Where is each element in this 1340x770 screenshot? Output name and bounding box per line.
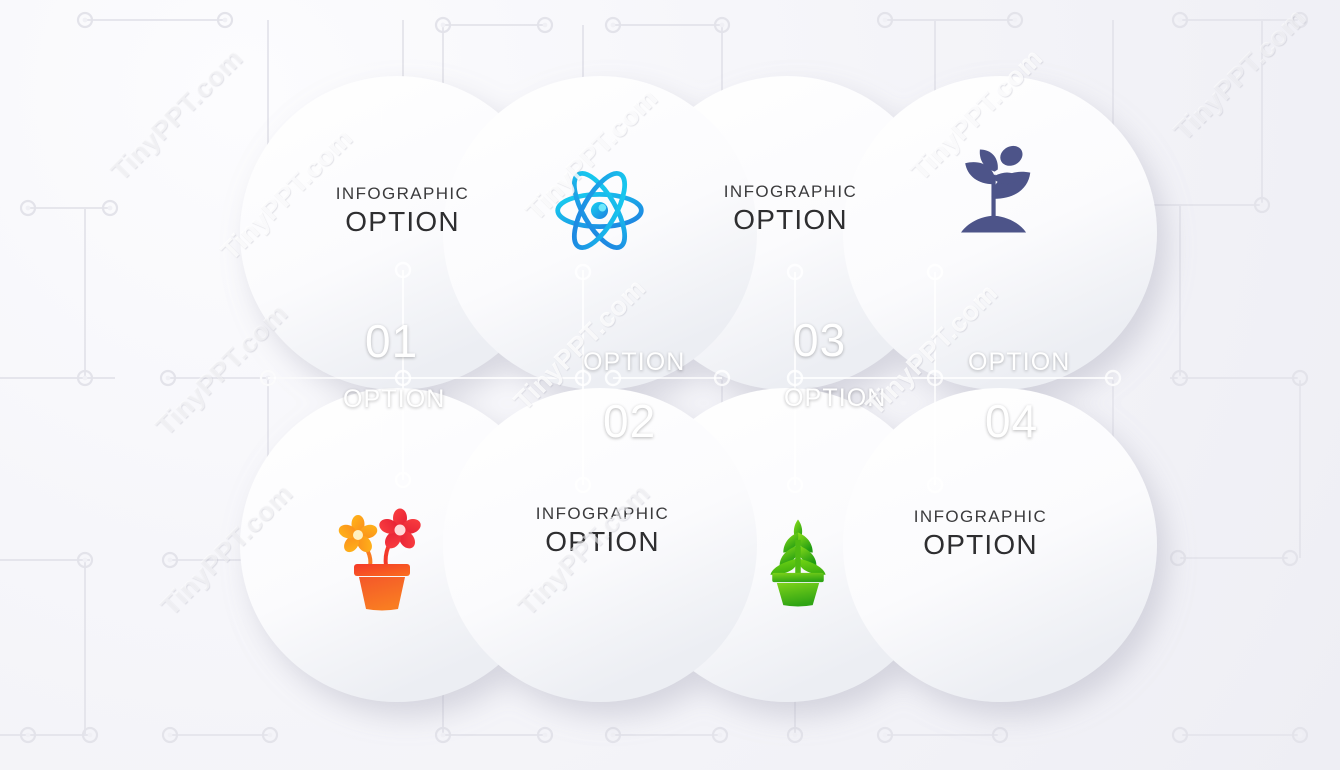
arrow-number-1: 01 [365, 318, 418, 364]
potted-plant-icon [752, 508, 844, 613]
arrow-number-3: 03 [793, 317, 846, 363]
caption-step-4-small: INFOGRAPHIC [848, 508, 1113, 525]
arrow-number-2: 02 [603, 398, 656, 444]
infographic-canvas: INFOGRAPHIC OPTION INFOGRAPHIC OPTION IN… [0, 0, 1340, 770]
flower-pot-icon [332, 508, 432, 613]
caption-step-3-large: OPTION [658, 206, 923, 234]
caption-step-3: INFOGRAPHIC OPTION [658, 183, 923, 234]
arrow-label-1: OPTION [343, 387, 445, 412]
caption-step-4: INFOGRAPHIC OPTION [848, 508, 1113, 559]
caption-step-4-large: OPTION [848, 531, 1113, 559]
arrow-label-2: OPTION [583, 350, 685, 375]
arrow-number-4: 04 [985, 398, 1038, 444]
caption-step-3-small: INFOGRAPHIC [658, 183, 923, 200]
caption-step-1-large: OPTION [270, 208, 535, 236]
arrow-label-4: OPTION [968, 350, 1070, 375]
